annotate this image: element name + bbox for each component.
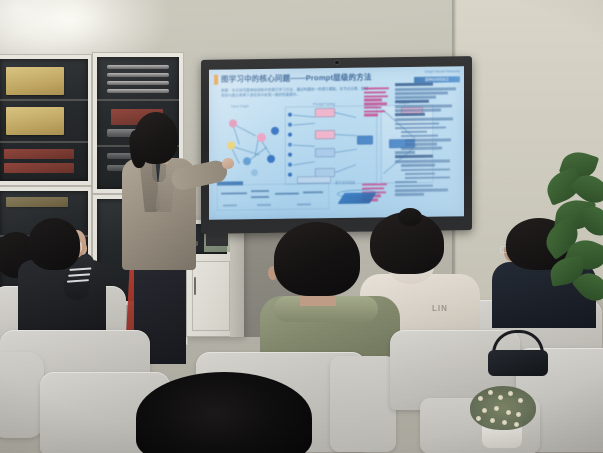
bag-body [488, 350, 548, 376]
hair [28, 218, 80, 270]
hair-bun [398, 208, 422, 226]
slide-corner-note: Graph Neural Networks [410, 69, 460, 75]
formula-block [217, 183, 329, 211]
lecture-room-photo: 图学习中的核心问题——Prompt层级的方法 Graph Neural Netw… [0, 0, 603, 453]
presentation-slide: 图学习中的核心问题——Prompt层级的方法 Graph Neural Netw… [209, 66, 464, 220]
student-center [260, 222, 400, 372]
plant-foliage [470, 386, 536, 430]
camera-icon [335, 61, 339, 64]
hoodie-print: LIN [432, 304, 476, 316]
hair [136, 372, 312, 453]
backpack[interactable] [486, 330, 556, 376]
award-plaque [6, 107, 64, 135]
award-plaque [6, 67, 64, 95]
student-left-front [18, 218, 104, 338]
presenter [112, 112, 216, 362]
display-item [4, 149, 74, 159]
chair-arm[interactable] [0, 352, 44, 438]
potted-plant [470, 386, 536, 446]
hair [274, 222, 360, 296]
student-foreground [136, 372, 312, 453]
plane-label: 表示空间投影 [335, 180, 355, 185]
slide-title-accent [214, 75, 218, 85]
algorithm-pseudocode [395, 82, 461, 211]
display-item [4, 163, 74, 173]
annotation-block-top [364, 87, 390, 118]
interactive-display-panel[interactable]: 图学习中的核心问题——Prompt层级的方法 Graph Neural Netw… [201, 56, 472, 234]
cabinet-glass-left [0, 59, 88, 181]
chair-arm[interactable] [330, 356, 396, 452]
display-screen[interactable]: 图学习中的核心问题——Prompt层级的方法 Graph Neural Netw… [209, 66, 464, 220]
graph-panel-label: Input Graph [231, 104, 249, 108]
projection-plane-graphic [335, 189, 379, 206]
tall-plant [540, 152, 603, 312]
slide-title: 图学习中的核心问题——Prompt层级的方法 [221, 71, 411, 85]
podium-side-panel [230, 219, 244, 337]
